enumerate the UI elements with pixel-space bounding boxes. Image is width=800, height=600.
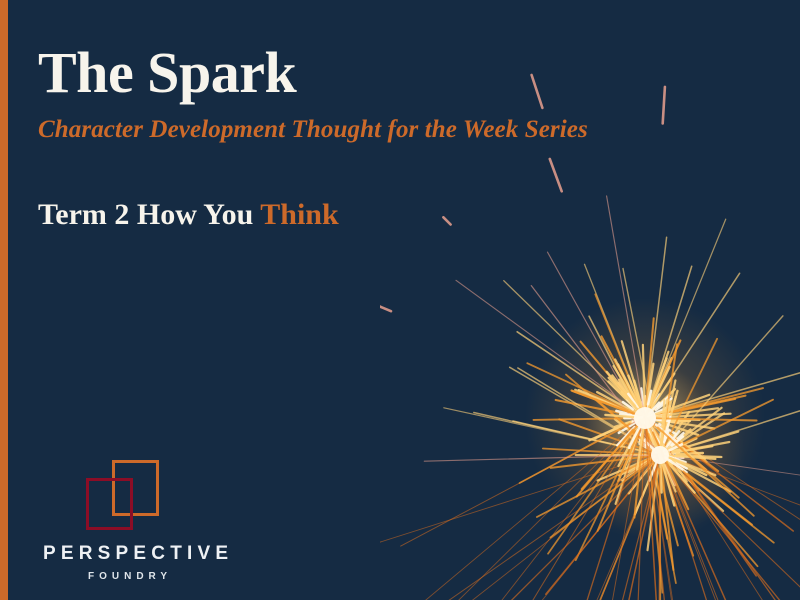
text-block: The Spark Character Development Thought … — [38, 0, 738, 231]
term-accent-word: Think — [260, 198, 338, 231]
logo-wordmark: PERSPECTIVE — [38, 544, 268, 563]
logo-subword: FOUNDRY — [38, 563, 268, 582]
overlapping-rectangles-logo-icon — [86, 460, 166, 530]
page-subtitle: Character Development Thought for the We… — [38, 102, 738, 144]
logo-rect-maroon-icon — [86, 478, 133, 530]
term-prefix: Term 2 How You — [38, 198, 260, 231]
left-accent-bar — [0, 0, 8, 600]
brand-logo: PERSPECTIVE FOUNDRY — [38, 460, 268, 582]
term-line: Term 2 How You Think — [38, 144, 738, 231]
page-title: The Spark — [38, 0, 738, 102]
title-slide: The Spark Character Development Thought … — [0, 0, 800, 600]
